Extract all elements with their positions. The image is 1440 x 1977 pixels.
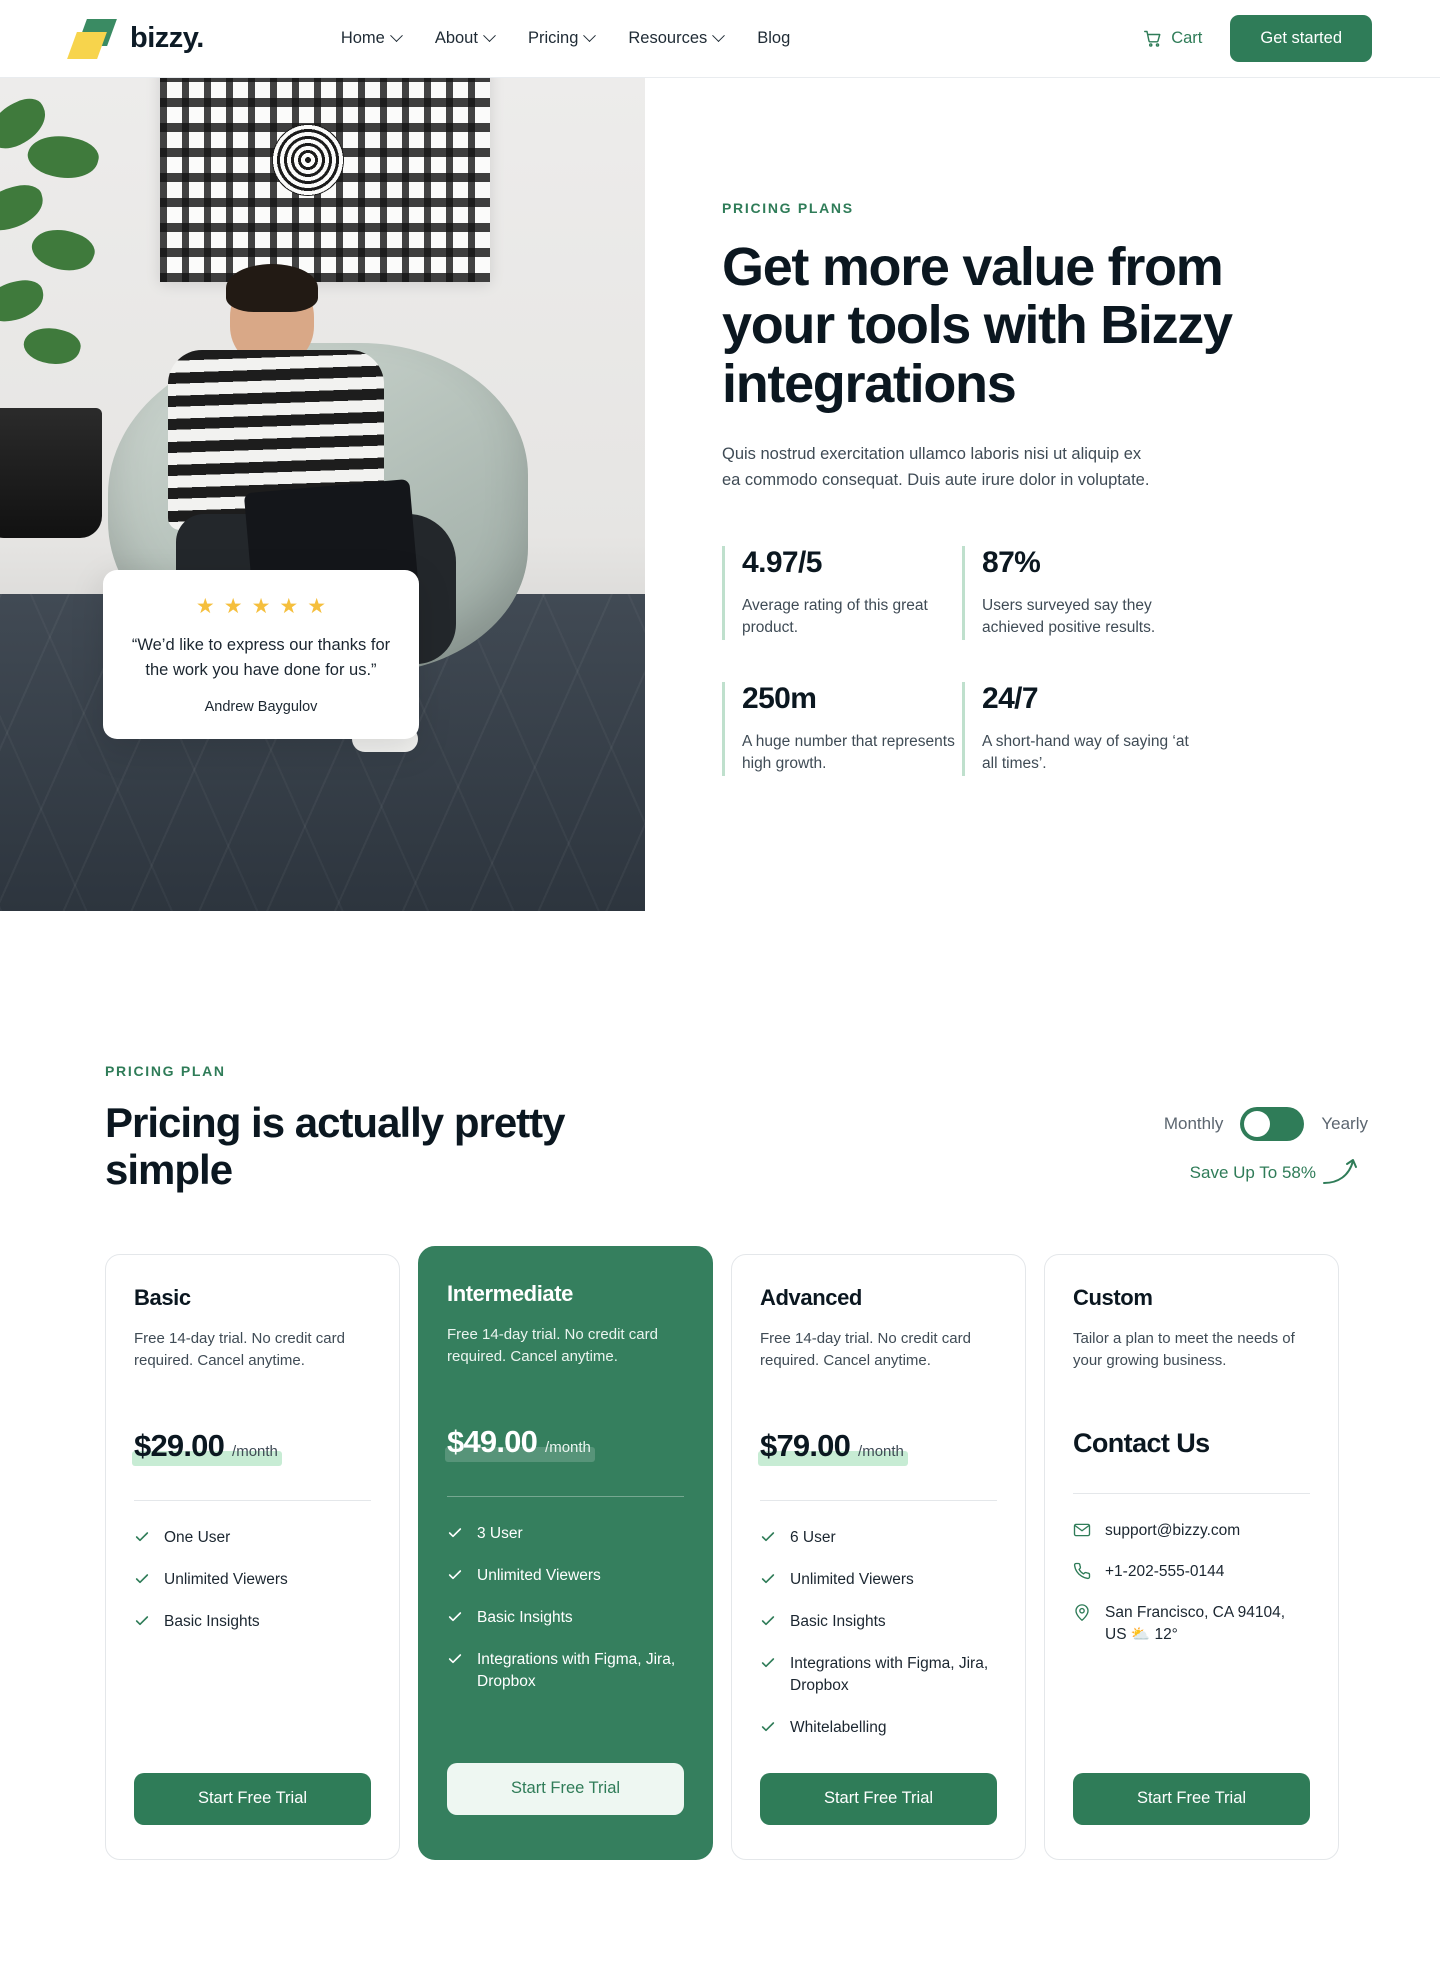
nav-item-home[interactable]: Home <box>341 29 401 48</box>
feature-label: Unlimited Viewers <box>477 1565 601 1587</box>
cart-link[interactable]: Cart <box>1144 29 1202 48</box>
pricing-heading-block: PRICING PLAN Pricing is actually pretty … <box>105 1063 575 1194</box>
plan-features: 3 User Unlimited Viewers Basic Insights … <box>447 1523 684 1693</box>
plan-period: /month <box>232 1443 278 1460</box>
nav-item-resources[interactable]: Resources <box>628 29 723 48</box>
feature-label: One User <box>164 1527 230 1549</box>
feature-item: Unlimited Viewers <box>134 1569 371 1591</box>
hero-content: PRICING PLANS Get more value from your t… <box>645 78 1440 776</box>
billing-toggle-group: Monthly Yearly Save Up To 58% <box>1164 1107 1368 1194</box>
plan-price-row: $79.00 /month <box>760 1428 904 1464</box>
check-icon <box>760 1719 776 1735</box>
plan-description: Free 14-day trial. No credit card requir… <box>134 1328 371 1394</box>
brand-logo[interactable]: bizzy. <box>70 19 204 59</box>
check-icon <box>760 1655 776 1671</box>
check-icon <box>447 1567 463 1583</box>
stat-item: 24/7 A short-hand way of saying ‘at all … <box>962 682 1202 776</box>
feature-label: Unlimited Viewers <box>164 1569 288 1591</box>
plan-price-row: $49.00 /month <box>447 1424 591 1460</box>
check-icon <box>447 1651 463 1667</box>
plan-cta-wrap: Start Free Trial <box>760 1739 997 1825</box>
phone-icon <box>1073 1562 1091 1580</box>
hero-title: Get more value from your tools with Bizz… <box>722 238 1242 413</box>
nav-item-about[interactable]: About <box>435 29 494 48</box>
check-icon <box>134 1529 150 1545</box>
plan-cta-wrap: Start Free Trial <box>134 1739 371 1825</box>
start-free-trial-button[interactable]: Start Free Trial <box>760 1773 997 1825</box>
billing-monthly-label[interactable]: Monthly <box>1164 1114 1224 1134</box>
hero-section: ★ ★ ★ ★ ★ “We’d like to express our than… <box>0 78 1440 911</box>
stat-value: 4.97/5 <box>742 546 962 579</box>
pricing-title-highlight: simple <box>105 1146 232 1193</box>
card-divider <box>760 1500 997 1501</box>
contact-email[interactable]: support@bizzy.com <box>1073 1520 1310 1542</box>
pricing-cards: Basic Free 14-day trial. No credit card … <box>0 1254 1440 1860</box>
feature-label: Basic Insights <box>790 1611 886 1633</box>
check-icon <box>760 1613 776 1629</box>
contact-phone[interactable]: +1-202-555-0144 <box>1073 1561 1310 1583</box>
feature-item: Integrations with Figma, Jira, Dropbox <box>760 1653 997 1697</box>
feature-item: Basic Insights <box>447 1607 684 1629</box>
plan-name: Basic <box>134 1285 371 1311</box>
nav-label: About <box>435 29 478 48</box>
feature-item: Integrations with Figma, Jira, Dropbox <box>447 1649 684 1693</box>
hero-subtitle: Quis nostrud exercitation ullamco labori… <box>722 441 1152 494</box>
plan-features: One User Unlimited Viewers Basic Insight… <box>134 1527 371 1633</box>
star-icon: ★ <box>279 596 298 617</box>
start-free-trial-button[interactable]: Start Free Trial <box>134 1773 371 1825</box>
billing-row: Monthly Yearly <box>1164 1107 1368 1141</box>
feature-item: Basic Insights <box>760 1611 997 1633</box>
start-free-trial-button[interactable]: Start Free Trial <box>1073 1773 1310 1825</box>
star-icon: ★ <box>307 596 326 617</box>
person-hair <box>226 264 318 312</box>
plan-description: Tailor a plan to meet the needs of your … <box>1073 1328 1310 1394</box>
stat-label: A short-hand way of saying ‘at all times… <box>982 731 1202 776</box>
pricing-section: PRICING PLAN Pricing is actually pretty … <box>0 1063 1440 1860</box>
feature-label: Unlimited Viewers <box>790 1569 914 1591</box>
card-divider <box>1073 1493 1310 1494</box>
stat-label: Average rating of this great product. <box>742 595 962 640</box>
star-rating-icons: ★ ★ ★ ★ ★ <box>131 596 391 617</box>
nav-label: Blog <box>757 29 790 48</box>
brand-name: bizzy. <box>130 24 204 53</box>
star-icon: ★ <box>196 596 215 617</box>
header-actions: Cart Get started <box>1144 15 1372 62</box>
contact-us-heading: Contact Us <box>1073 1428 1310 1459</box>
nav-item-blog[interactable]: Blog <box>757 29 790 48</box>
plan-name: Custom <box>1073 1285 1310 1311</box>
plan-cta-wrap: Start Free Trial <box>447 1729 684 1815</box>
feature-item: Whitelabelling <box>760 1717 997 1739</box>
plan-price-row: $29.00 /month <box>134 1428 278 1464</box>
site-header: bizzy. Home About Pricing Resources Blog <box>0 0 1440 78</box>
get-started-button[interactable]: Get started <box>1230 15 1372 62</box>
bizzy-logo-icon <box>70 19 118 59</box>
stat-value: 250m <box>742 682 962 715</box>
nav-label: Pricing <box>528 29 578 48</box>
feature-label: Whitelabelling <box>790 1717 887 1739</box>
check-icon <box>134 1613 150 1629</box>
contact-list: support@bizzy.com +1-202-555-0144 San Fr… <box>1073 1520 1310 1646</box>
check-icon <box>134 1571 150 1587</box>
chevron-down-icon <box>390 29 403 42</box>
chevron-down-icon <box>584 29 597 42</box>
stat-item: 87% Users surveyed say they achieved pos… <box>962 546 1202 640</box>
feature-label: Basic Insights <box>477 1607 573 1629</box>
star-icon: ★ <box>224 596 243 617</box>
mail-icon <box>1073 1521 1091 1539</box>
pricing-card-basic[interactable]: Basic Free 14-day trial. No credit card … <box>105 1254 400 1860</box>
stat-label: A huge number that represents high growt… <box>742 731 962 776</box>
plan-name: Intermediate <box>447 1281 684 1307</box>
plan-price: $79.00 <box>760 1428 850 1464</box>
star-icon: ★ <box>252 596 271 617</box>
contact-location-text: San Francisco, CA 94104, US ⛅ 12° <box>1105 1602 1310 1646</box>
nav-label: Home <box>341 29 385 48</box>
contact-location[interactable]: San Francisco, CA 94104, US ⛅ 12° <box>1073 1602 1310 1646</box>
plan-cta-wrap: Start Free Trial <box>1073 1739 1310 1825</box>
feature-item: Basic Insights <box>134 1611 371 1633</box>
stat-value: 24/7 <box>982 682 1202 715</box>
nav-label: Resources <box>628 29 707 48</box>
start-free-trial-button[interactable]: Start Free Trial <box>447 1763 684 1815</box>
pricing-title: Pricing is actually pretty simple <box>105 1099 575 1194</box>
stat-value: 87% <box>982 546 1202 579</box>
feature-label: Integrations with Figma, Jira, Dropbox <box>477 1649 684 1693</box>
plan-description: Free 14-day trial. No credit card requir… <box>760 1328 997 1394</box>
pricing-eyebrow: PRICING PLAN <box>105 1063 575 1079</box>
check-icon <box>447 1609 463 1625</box>
card-divider <box>134 1500 371 1501</box>
save-note: Save Up To 58% <box>1164 1156 1368 1190</box>
check-icon <box>760 1529 776 1545</box>
hero-stats: 4.97/5 Average rating of this great prod… <box>722 546 1222 776</box>
contact-phone-text: +1-202-555-0144 <box>1105 1561 1224 1583</box>
plant-basket <box>0 408 102 538</box>
feature-label: 3 User <box>477 1523 523 1545</box>
house-plant <box>0 100 130 430</box>
pricing-title-part1: Pricing is actually pretty <box>105 1099 565 1146</box>
cart-icon <box>1144 30 1162 48</box>
check-icon <box>760 1571 776 1587</box>
feature-item: 3 User <box>447 1523 684 1545</box>
check-icon <box>447 1525 463 1541</box>
feature-label: Integrations with Figma, Jira, Dropbox <box>790 1653 997 1697</box>
feature-label: 6 User <box>790 1527 836 1549</box>
plan-price: $49.00 <box>447 1424 537 1460</box>
plan-period: /month <box>545 1439 591 1456</box>
testimonial-card: ★ ★ ★ ★ ★ “We’d like to express our than… <box>103 570 419 739</box>
save-text: Save Up To 58% <box>1190 1163 1316 1183</box>
feature-item: Unlimited Viewers <box>447 1565 684 1587</box>
billing-period-toggle[interactable] <box>1240 1107 1304 1141</box>
cart-label: Cart <box>1171 29 1202 48</box>
pricing-header: PRICING PLAN Pricing is actually pretty … <box>0 1063 1440 1194</box>
plan-price: $29.00 <box>134 1428 224 1464</box>
feature-item: One User <box>134 1527 371 1549</box>
contact-email-text: support@bizzy.com <box>1105 1520 1240 1542</box>
pricing-card-advanced[interactable]: Advanced Free 14-day trial. No credit ca… <box>731 1254 1026 1860</box>
hero-image: ★ ★ ★ ★ ★ “We’d like to express our than… <box>0 78 645 911</box>
plan-period: /month <box>858 1443 904 1460</box>
feature-label: Basic Insights <box>164 1611 260 1633</box>
plan-name: Advanced <box>760 1285 997 1311</box>
pricing-card-intermediate[interactable]: Intermediate Free 14-day trial. No credi… <box>418 1246 713 1860</box>
billing-yearly-label[interactable]: Yearly <box>1321 1114 1368 1134</box>
chevron-down-icon <box>712 29 725 42</box>
feature-item: 6 User <box>760 1527 997 1549</box>
hero-eyebrow: PRICING PLANS <box>722 200 1440 216</box>
pricing-card-custom[interactable]: Custom Tailor a plan to meet the needs o… <box>1044 1254 1339 1860</box>
nav-item-pricing[interactable]: Pricing <box>528 29 594 48</box>
stat-label: Users surveyed say they achieved positiv… <box>982 595 1202 640</box>
testimonial-author: Andrew Baygulov <box>131 699 391 715</box>
chevron-down-icon <box>483 29 496 42</box>
plan-features: 6 User Unlimited Viewers Basic Insights … <box>760 1527 997 1739</box>
location-icon <box>1073 1603 1091 1621</box>
feature-item: Unlimited Viewers <box>760 1569 997 1591</box>
testimonial-quote: “We’d like to express our thanks for the… <box>131 633 391 683</box>
toggle-knob <box>1244 1111 1270 1137</box>
plan-description: Free 14-day trial. No credit card requir… <box>447 1324 684 1390</box>
main-navigation: Home About Pricing Resources Blog <box>341 29 790 48</box>
stat-item: 4.97/5 Average rating of this great prod… <box>722 546 962 640</box>
curved-arrow-icon <box>1322 1156 1362 1190</box>
card-divider <box>447 1496 684 1497</box>
wall-poster <box>160 78 490 282</box>
stat-item: 250m A huge number that represents high … <box>722 682 962 776</box>
